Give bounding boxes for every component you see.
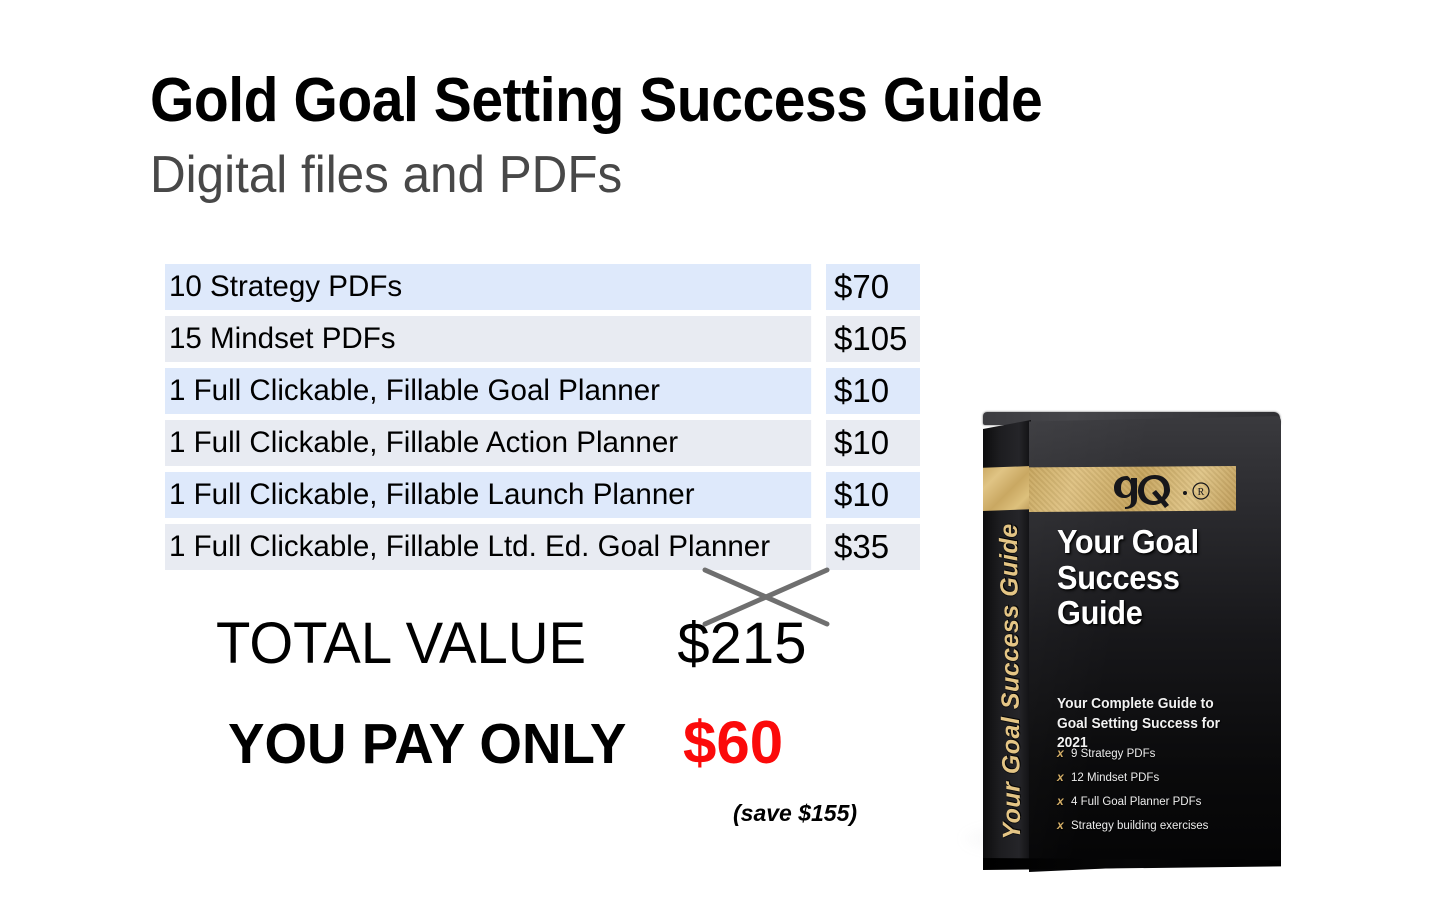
table-row: 10 Strategy PDFs $70 [165,264,920,310]
check-mark-icon: х [1057,818,1071,832]
svg-text:R: R [1198,487,1205,498]
table-row: 1 Full Clickable, Fillable Action Planne… [165,420,920,466]
item-price: $35 [826,524,920,570]
total-value-label: TOTAL VALUE [216,610,586,677]
you-pay-label: YOU PAY ONLY [228,711,626,777]
product-box-image: Your Goal Success Guide R Your Goal Succ… [945,390,1295,890]
table-row: 1 Full Clickable, Fillable Ltd. Ed. Goal… [165,524,920,570]
price-table: 10 Strategy PDFs $70 15 Mindset PDFs $10… [165,264,920,576]
you-pay-row: YOU PAY ONLY $60 [228,708,783,777]
list-item-label: Strategy building exercises [1071,820,1208,832]
list-item-label: 4 Full Goal Planner PDFs [1071,796,1201,808]
check-mark-icon: х [1057,746,1071,760]
save-note: (save $155) [733,800,857,827]
item-price: $10 [826,472,920,518]
item-label: 1 Full Clickable, Fillable Ltd. Ed. Goal… [165,524,811,570]
box-edge-title: Goal Guide [1400,431,1437,851]
item-price: $105 [826,316,920,362]
total-value-amount-wrap: $215 [677,610,806,677]
brand-logo-icon: R [1111,470,1221,510]
total-value-amount: $215 [677,611,806,676]
table-row: 1 Full Clickable, Fillable Launch Planne… [165,472,920,518]
item-label: 1 Full Clickable, Fillable Launch Planne… [165,472,811,518]
item-label: 1 Full Clickable, Fillable Action Planne… [165,420,811,466]
table-row: 15 Mindset PDFs $105 [165,316,920,362]
list-item-label: 12 Mindset PDFs [1071,772,1159,784]
you-pay-amount: $60 [683,708,783,777]
item-label: 10 Strategy PDFs [165,264,811,310]
page-title: Gold Goal Setting Success Guide [150,68,1042,133]
item-price: $10 [826,368,920,414]
item-price: $70 [826,264,920,310]
page-subtitle: Digital files and PDFs [150,148,622,203]
item-price: $10 [826,420,920,466]
box-front-face: R Your Goal Success Guide Your Complete … [1029,416,1281,872]
box-feature-list: х 9 Strategy PDFs х 12 Mindset PDFs х 4 … [1057,746,1267,842]
list-item: х 12 Mindset PDFs [1057,770,1267,784]
list-item-label: 9 Strategy PDFs [1071,748,1155,760]
total-value-row: TOTAL VALUE $215 [216,610,806,677]
box-body: Your Goal Success Guide R Your Goal Succ… [963,412,1283,862]
list-item: х Strategy building exercises [1057,818,1267,832]
box-front-subtitle: Your Complete Guide to Goal Setting Succ… [1057,695,1247,754]
box-front-title: Your Goal Success Guide [1057,524,1252,631]
check-mark-icon: х [1057,794,1071,808]
list-item: х 4 Full Goal Planner PDFs [1057,794,1267,808]
spine-title: Your Goal Success Guide [994,467,1028,897]
table-row: 1 Full Clickable, Fillable Goal Planner … [165,368,920,414]
check-mark-icon: х [1057,770,1071,784]
item-label: 1 Full Clickable, Fillable Goal Planner [165,368,811,414]
list-item: х 9 Strategy PDFs [1057,746,1267,760]
item-label: 15 Mindset PDFs [165,316,811,362]
